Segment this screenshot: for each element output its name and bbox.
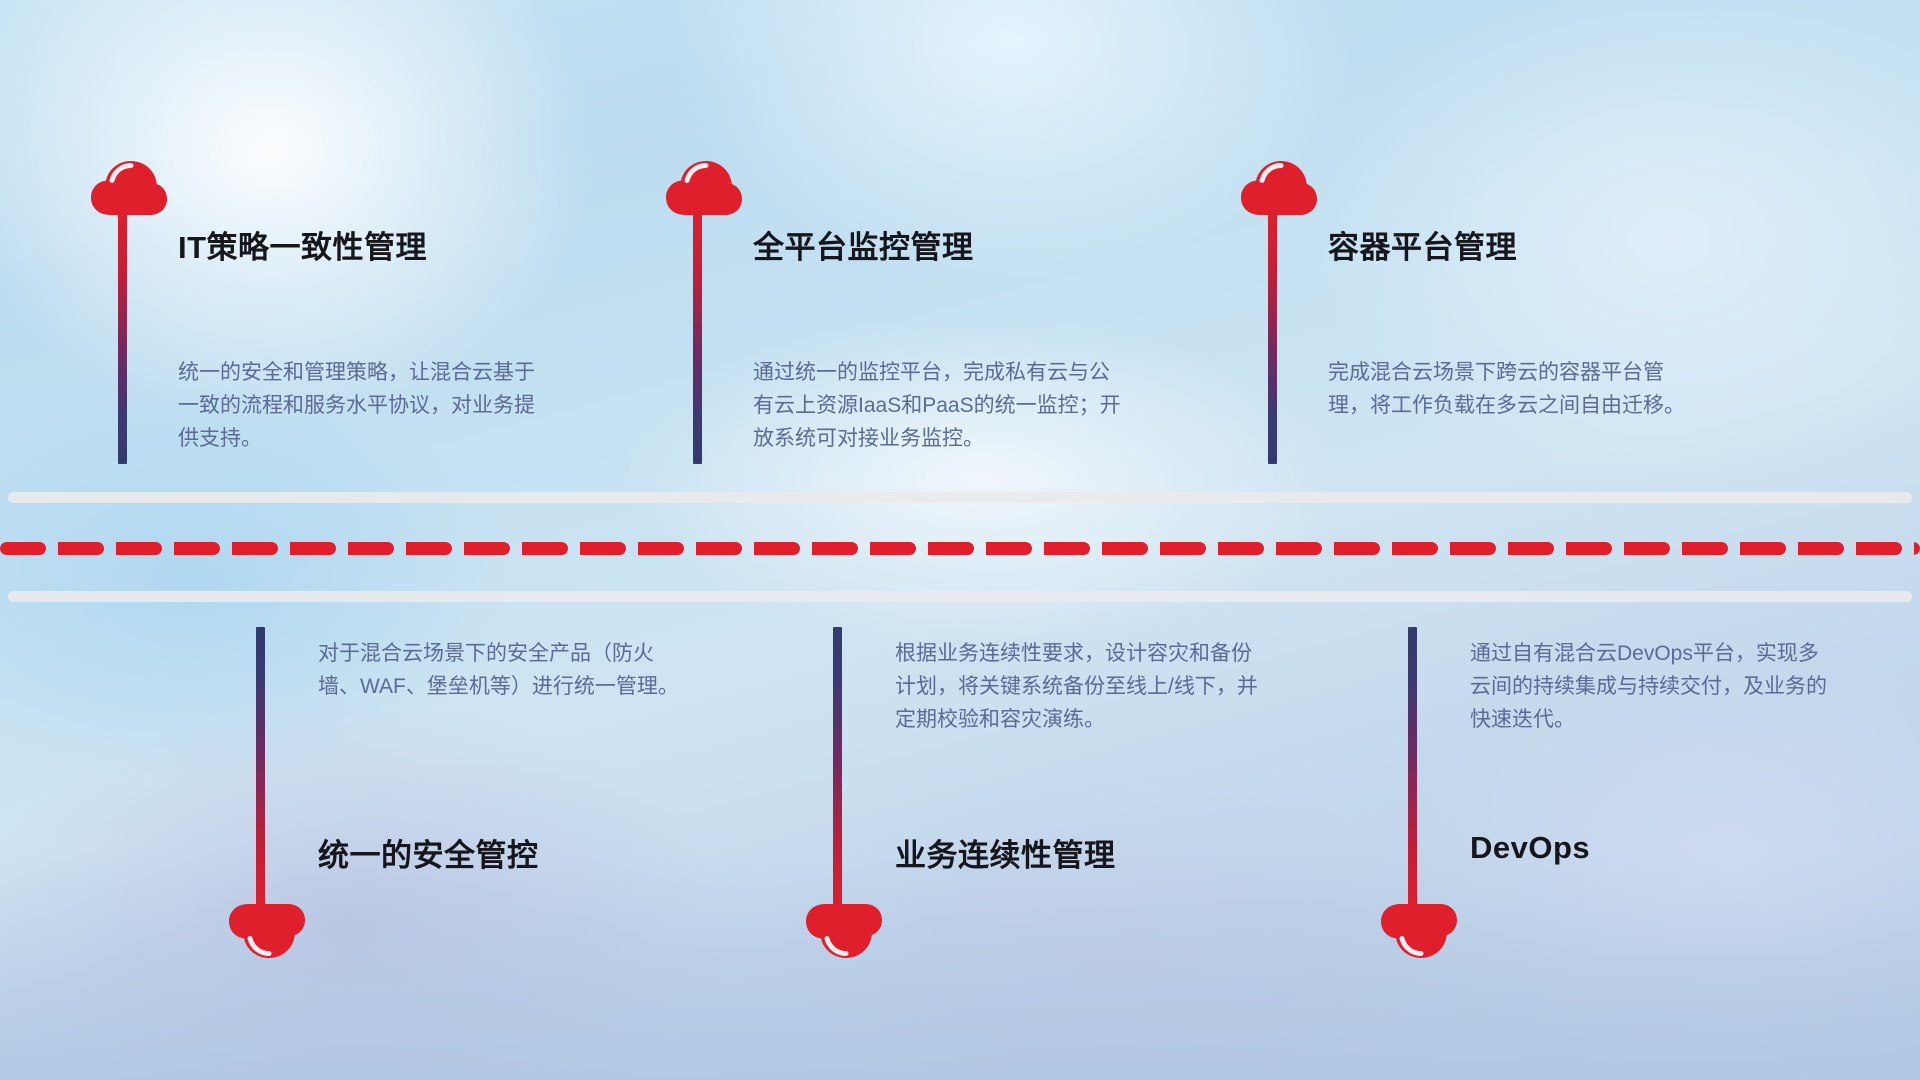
divider-dash: [418, 542, 452, 555]
divider-bar-top: [8, 492, 1912, 503]
divider-dash: [1056, 542, 1090, 555]
pillar-stem: [1408, 627, 1417, 917]
divider-dash: [592, 542, 626, 555]
divider-dash: [766, 542, 800, 555]
item-title: 容器平台管理: [1328, 222, 1517, 267]
pillar-stem: [1268, 206, 1277, 464]
divider-dash: [882, 542, 916, 555]
section-divider: [0, 492, 1920, 602]
divider-dash: [1578, 542, 1612, 555]
item-title: 统一的安全管控: [318, 830, 539, 875]
divider-dash: [70, 542, 104, 555]
divider-dash: [998, 542, 1032, 555]
divider-dash: [1462, 542, 1496, 555]
pillar-stem: [693, 206, 702, 464]
cloud-pin-icon: [805, 903, 883, 964]
item-description: 通过自有混合云DevOps平台，实现多云间的持续集成与持续交付，及业务的快速迭代…: [1470, 637, 1830, 736]
item-title: DevOps: [1470, 830, 1590, 866]
divider-dash: [1752, 542, 1786, 555]
divider-dash: [1868, 542, 1902, 555]
divider-dash: [1346, 542, 1380, 555]
cloud-pin-icon: [1380, 903, 1458, 964]
divider-dash: [302, 542, 336, 555]
divider-dash: [708, 542, 742, 555]
item-description: 统一的安全和管理策略，让混合云基于一致的流程和服务水平协议，对业务提供支持。: [178, 356, 548, 455]
divider-dash: [1810, 542, 1844, 555]
divider-dash: [1230, 542, 1264, 555]
item-description: 通过统一的监控平台，完成私有云与公有云上资源IaaS和PaaS的统一监控；开放系…: [753, 356, 1123, 455]
item-title: 全平台监控管理: [753, 222, 974, 267]
divider-dashed-line: [0, 542, 1920, 555]
infographic-canvas: IT策略一致性管理 统一的安全和管理策略，让混合云基于一致的流程和服务水平协议，…: [0, 0, 1920, 1080]
pillar-stem: [833, 627, 842, 917]
divider-dash: [940, 542, 974, 555]
divider-dash: [244, 542, 278, 555]
divider-dash: [824, 542, 858, 555]
divider-dash: [12, 542, 46, 555]
divider-dash: [1114, 542, 1148, 555]
cloud-pin-icon: [665, 160, 743, 221]
item-description: 对于混合云场景下的安全产品（防火墙、WAF、堡垒机等）进行统一管理。: [318, 637, 688, 703]
background-bottom-fade: [0, 850, 1920, 1080]
divider-dash: [360, 542, 394, 555]
divider-dash: [1694, 542, 1728, 555]
divider-dash: [650, 542, 684, 555]
item-title: IT策略一致性管理: [178, 222, 427, 267]
item-title: 业务连续性管理: [895, 830, 1116, 875]
divider-dash: [1288, 542, 1322, 555]
pillar-stem: [118, 206, 127, 464]
divider-bar-bottom: [8, 591, 1912, 602]
divider-dash: [1520, 542, 1554, 555]
item-description: 完成混合云场景下跨云的容器平台管理，将工作负载在多云之间自由迁移。: [1328, 356, 1688, 422]
divider-dash: [534, 542, 568, 555]
divider-dash: [1636, 542, 1670, 555]
divider-dash: [476, 542, 510, 555]
divider-dash: [1404, 542, 1438, 555]
cloud-pin-icon: [90, 160, 168, 221]
cloud-pin-icon: [1240, 160, 1318, 221]
divider-dash: [186, 542, 220, 555]
divider-dash: [128, 542, 162, 555]
item-description: 根据业务连续性要求，设计容灾和备份计划，将关键系统备份至线上/线下，并定期校验和…: [895, 637, 1265, 736]
divider-dash: [1172, 542, 1206, 555]
cloud-pin-icon: [228, 903, 306, 964]
pillar-stem: [256, 627, 265, 917]
